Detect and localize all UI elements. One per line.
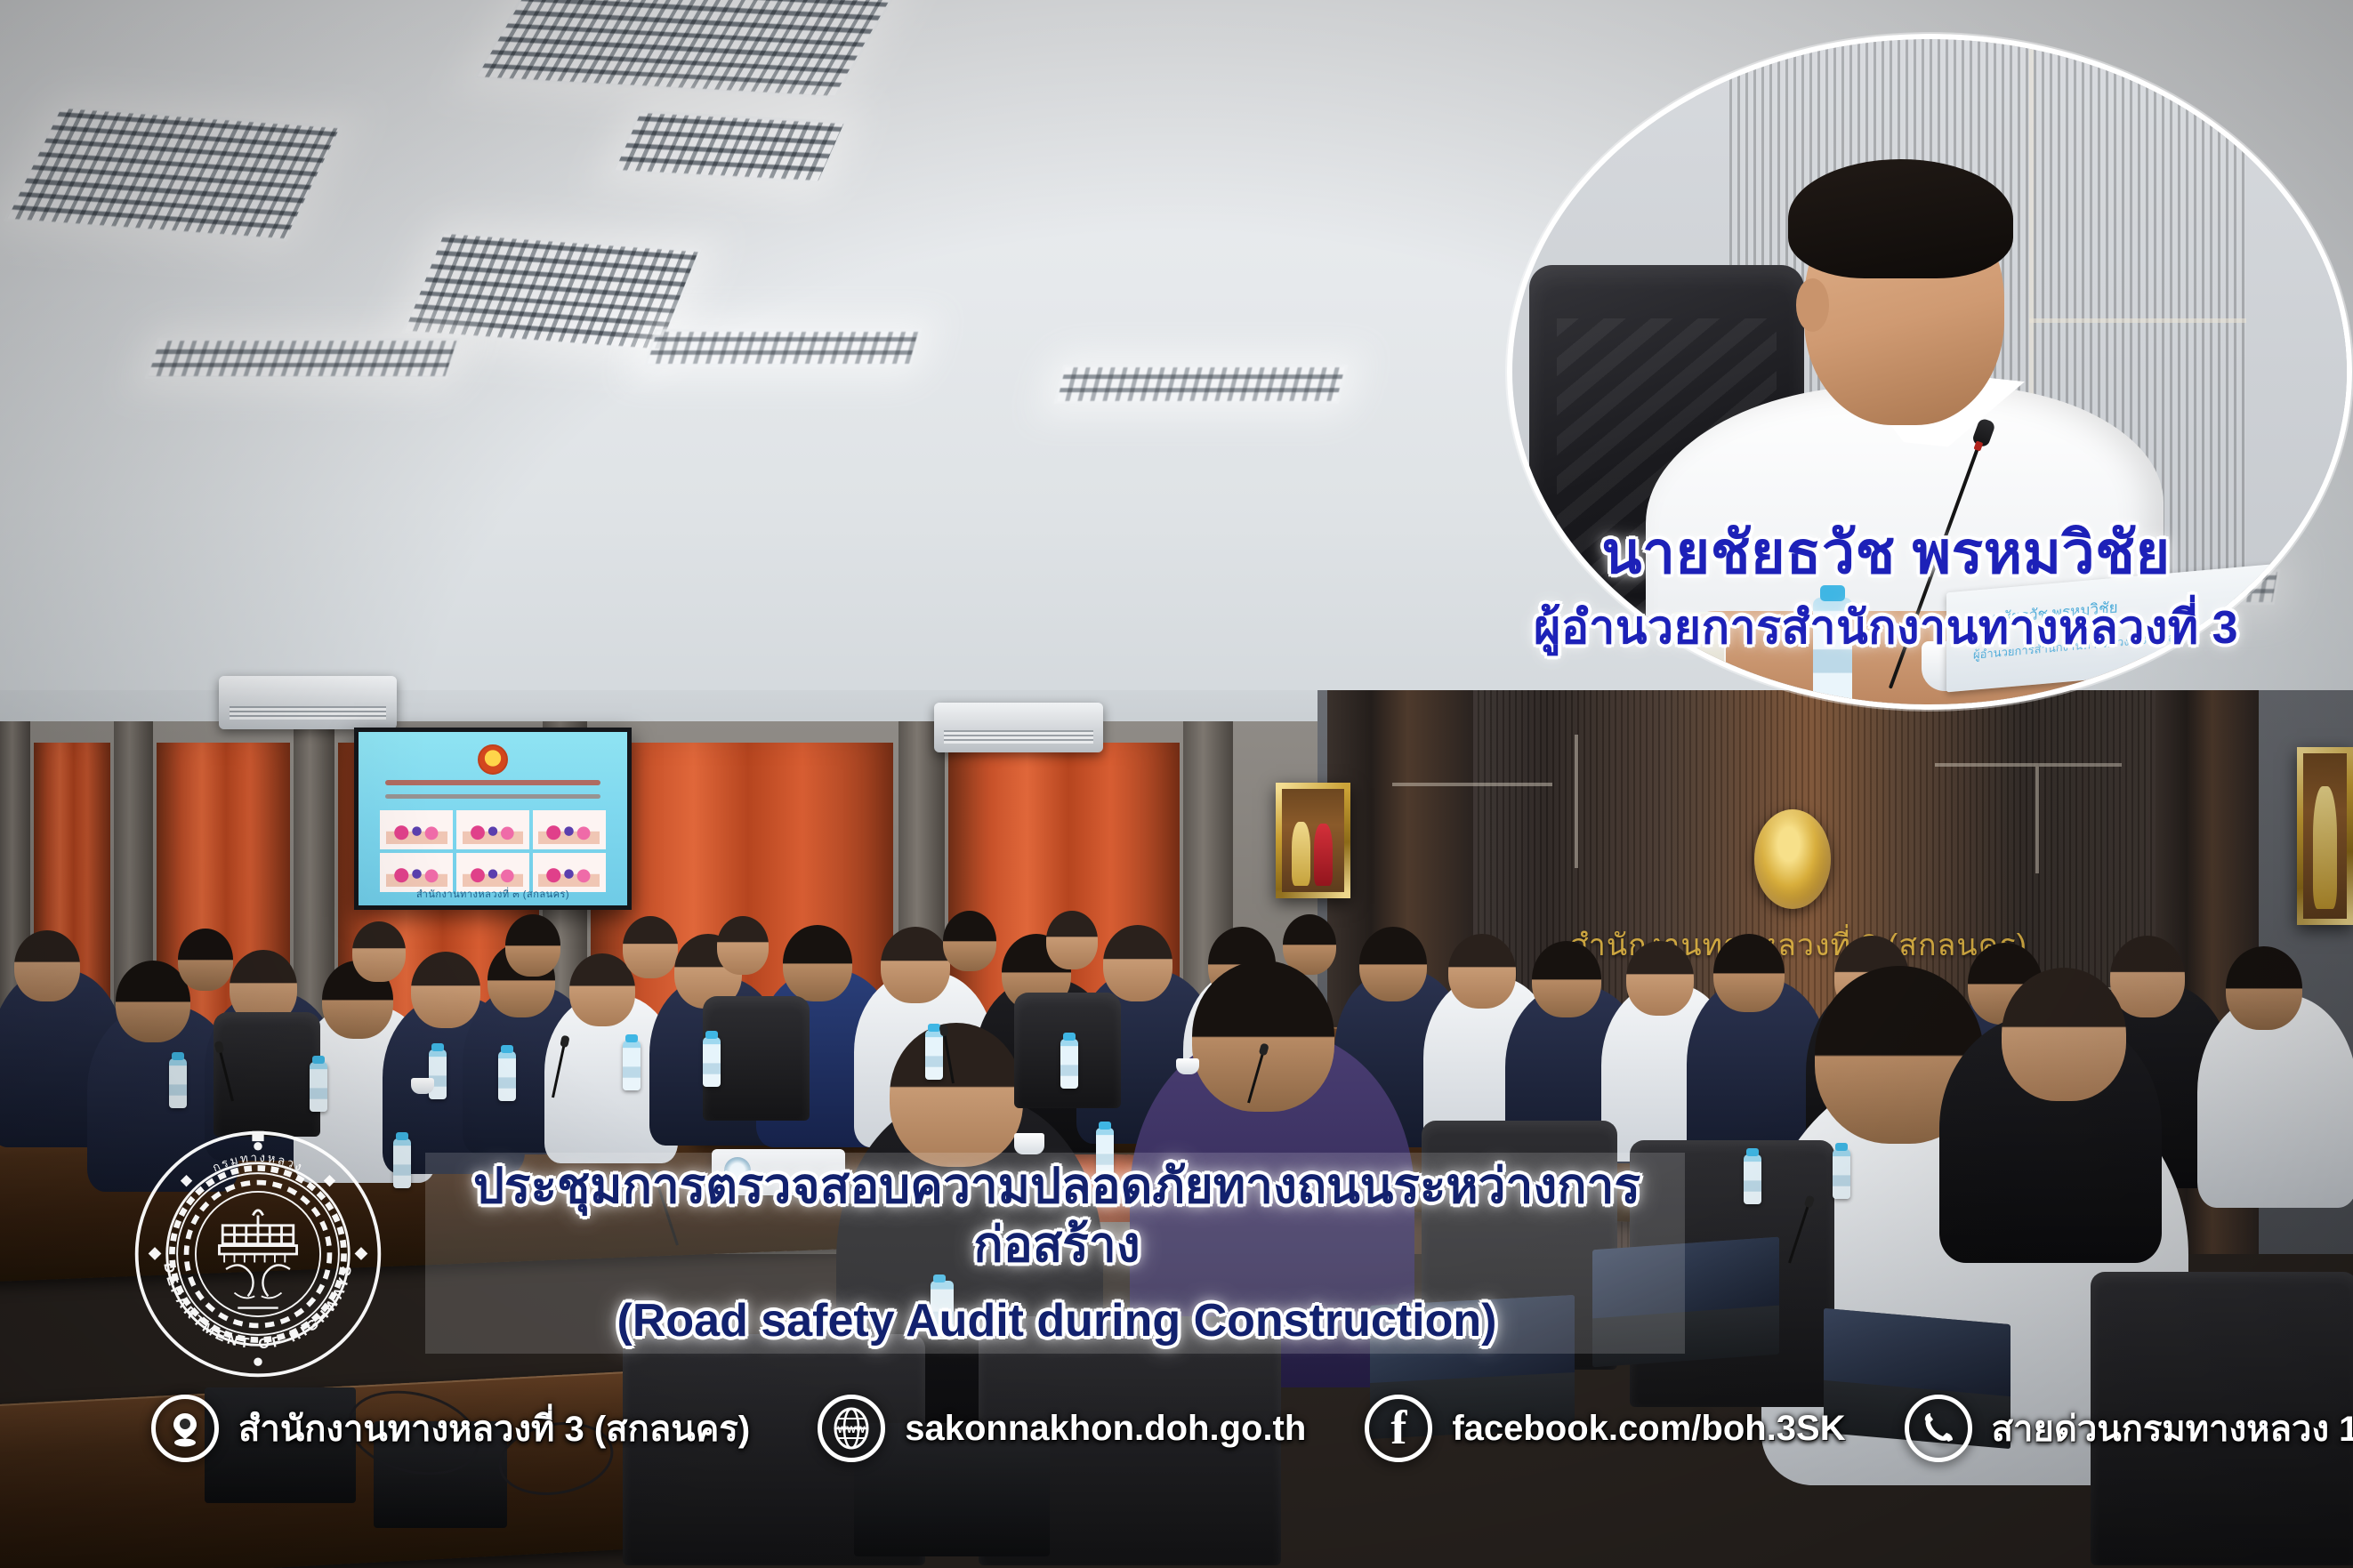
slide-subtitle-line: [385, 794, 600, 799]
attendee-head: [411, 952, 480, 1028]
ceiling-light-fixture: [611, 110, 848, 184]
attendee-head: [14, 930, 80, 1001]
air-conditioner: [934, 703, 1103, 752]
royal-figure: [1292, 822, 1310, 886]
www-globe-icon: WWW: [818, 1395, 885, 1462]
office-chair: [214, 1012, 320, 1137]
ceiling-light-fixture: [4, 105, 343, 241]
slide-photo-grid: [380, 810, 606, 892]
ceiling-light-strip: [145, 338, 461, 379]
department-of-highways-seal-icon: กรมทางหลวง DEPARTMENT OF HIGHWAYS: [132, 1128, 384, 1380]
contact-hotline[interactable]: สายด่วนกรมทางหลวง 1586: [1905, 1395, 2353, 1462]
water-bottle: [1744, 1154, 1761, 1204]
contact-facebook-label: facebook.com/boh.3SK: [1452, 1409, 1845, 1449]
contact-website-label: sakonnakhon.doh.go.th: [905, 1409, 1306, 1449]
water-bottle: [498, 1051, 516, 1101]
ceiling-light-strip: [1054, 365, 1349, 404]
water-bottle: [429, 1049, 447, 1099]
attendee-head: [505, 914, 560, 977]
attendee-head: [2110, 936, 2185, 1017]
attendee-head: [2226, 946, 2302, 1030]
attendee-head: [890, 1023, 1023, 1167]
garuda-emblem-icon: [478, 744, 508, 775]
slide-photo: [456, 810, 529, 849]
attendee-head: [1713, 934, 1785, 1012]
attendee-head: [623, 916, 678, 978]
wall-gold-emblem: [1754, 809, 1831, 909]
attendee-head: [881, 927, 950, 1003]
attendee-head: [1626, 941, 1694, 1016]
attendee-head: [1532, 941, 1601, 1017]
phone-icon: [1905, 1395, 1972, 1462]
water-bottle: [169, 1058, 187, 1108]
poster-root: สำนักงานทางหลวงที่ ๓ (สกลนคร) สำนักงานทา…: [0, 0, 2353, 1568]
attendee-head: [1192, 961, 1334, 1112]
water-bottle: [393, 1138, 411, 1188]
seal-thai-text: กรมทางหลวง: [210, 1151, 305, 1175]
director-position: ผู้อำนวยการสำนักงานทางหลวงที่ 3: [1459, 602, 2313, 654]
coffee-cup: [1176, 1058, 1199, 1074]
contact-bar: สำนักงานทางหลวงที่ 3 (สกลนคร) WWW sakonn…: [151, 1377, 2188, 1480]
wall-seam: [2029, 318, 2246, 323]
title-block: ประชุมการตรวจสอบความปลอดภัยทางถนนระหว่าง…: [425, 1156, 1688, 1348]
wall-seam: [2035, 767, 2039, 873]
water-bottle: [1060, 1039, 1078, 1089]
contact-hotline-label: สายด่วนกรมทางหลวง 1586: [1992, 1400, 2353, 1457]
attendee-head: [2002, 968, 2126, 1101]
wall-seam: [1575, 735, 1578, 868]
slide-photo: [533, 810, 606, 849]
facebook-f-glyph: f: [1390, 1409, 1406, 1447]
contact-office[interactable]: สำนักงานทางหลวงที่ 3 (สกลนคร): [151, 1395, 750, 1462]
attendee-head: [1046, 911, 1098, 969]
slide-title-line: [385, 780, 600, 785]
royal-portrait-left: [1276, 783, 1350, 898]
water-bottle: [1833, 1149, 1850, 1199]
royal-figure: [2313, 786, 2337, 909]
air-conditioner: [219, 676, 397, 729]
title-thai: ประชุมการตรวจสอบความปลอดภัยทางถนนระหว่าง…: [425, 1156, 1688, 1274]
projection-screen: สำนักงานทางหลวงที่ ๓ (สกลนคร): [354, 728, 632, 910]
attendee-head: [943, 911, 996, 971]
director-name: นายชัยธวัช พรหมวิชัย: [1459, 520, 2313, 586]
royal-figure: [1314, 824, 1333, 886]
wall-seam: [1935, 763, 2122, 767]
royal-portrait-right: [2297, 747, 2353, 925]
svg-text:กรมทางหลวง: กรมทางหลวง: [210, 1151, 305, 1175]
location-pin-icon: [151, 1395, 219, 1462]
slide-footer-text: สำนักงานทางหลวงที่ ๓ (สกลนคร): [359, 886, 627, 902]
attendee-head: [1448, 934, 1516, 1009]
director-name-block: นายชัยธวัช พรหมวิชัย ผู้อำนวยการสำนักงาน…: [1459, 520, 2313, 654]
water-bottle: [703, 1037, 721, 1087]
water-bottle: [310, 1062, 327, 1112]
contact-website[interactable]: WWW sakonnakhon.doh.go.th: [818, 1395, 1306, 1462]
svg-text:WWW: WWW: [838, 1425, 866, 1435]
wall-seam: [1392, 783, 1552, 786]
attendee-head: [1359, 927, 1427, 1001]
attendee-head: [1103, 925, 1172, 1001]
attendee-head: [178, 929, 233, 991]
contact-facebook[interactable]: f facebook.com/boh.3SK: [1365, 1395, 1845, 1462]
slide-photo: [380, 810, 453, 849]
ceiling-light-strip: [644, 329, 922, 366]
water-bottle: [623, 1041, 641, 1090]
attendee-head: [783, 925, 852, 1001]
attendee-head: [352, 921, 406, 982]
contact-office-label: สำนักงานทางหลวงที่ 3 (สกลนคร): [238, 1400, 750, 1457]
attendee-head: [717, 916, 769, 975]
coffee-cup: [1014, 1133, 1044, 1154]
director-hair: [1788, 159, 2013, 279]
coffee-cup: [411, 1078, 434, 1094]
water-bottle: [925, 1030, 943, 1080]
facebook-icon: f: [1365, 1395, 1432, 1462]
title-english: (Road safety Audit during Construction): [425, 1293, 1688, 1348]
